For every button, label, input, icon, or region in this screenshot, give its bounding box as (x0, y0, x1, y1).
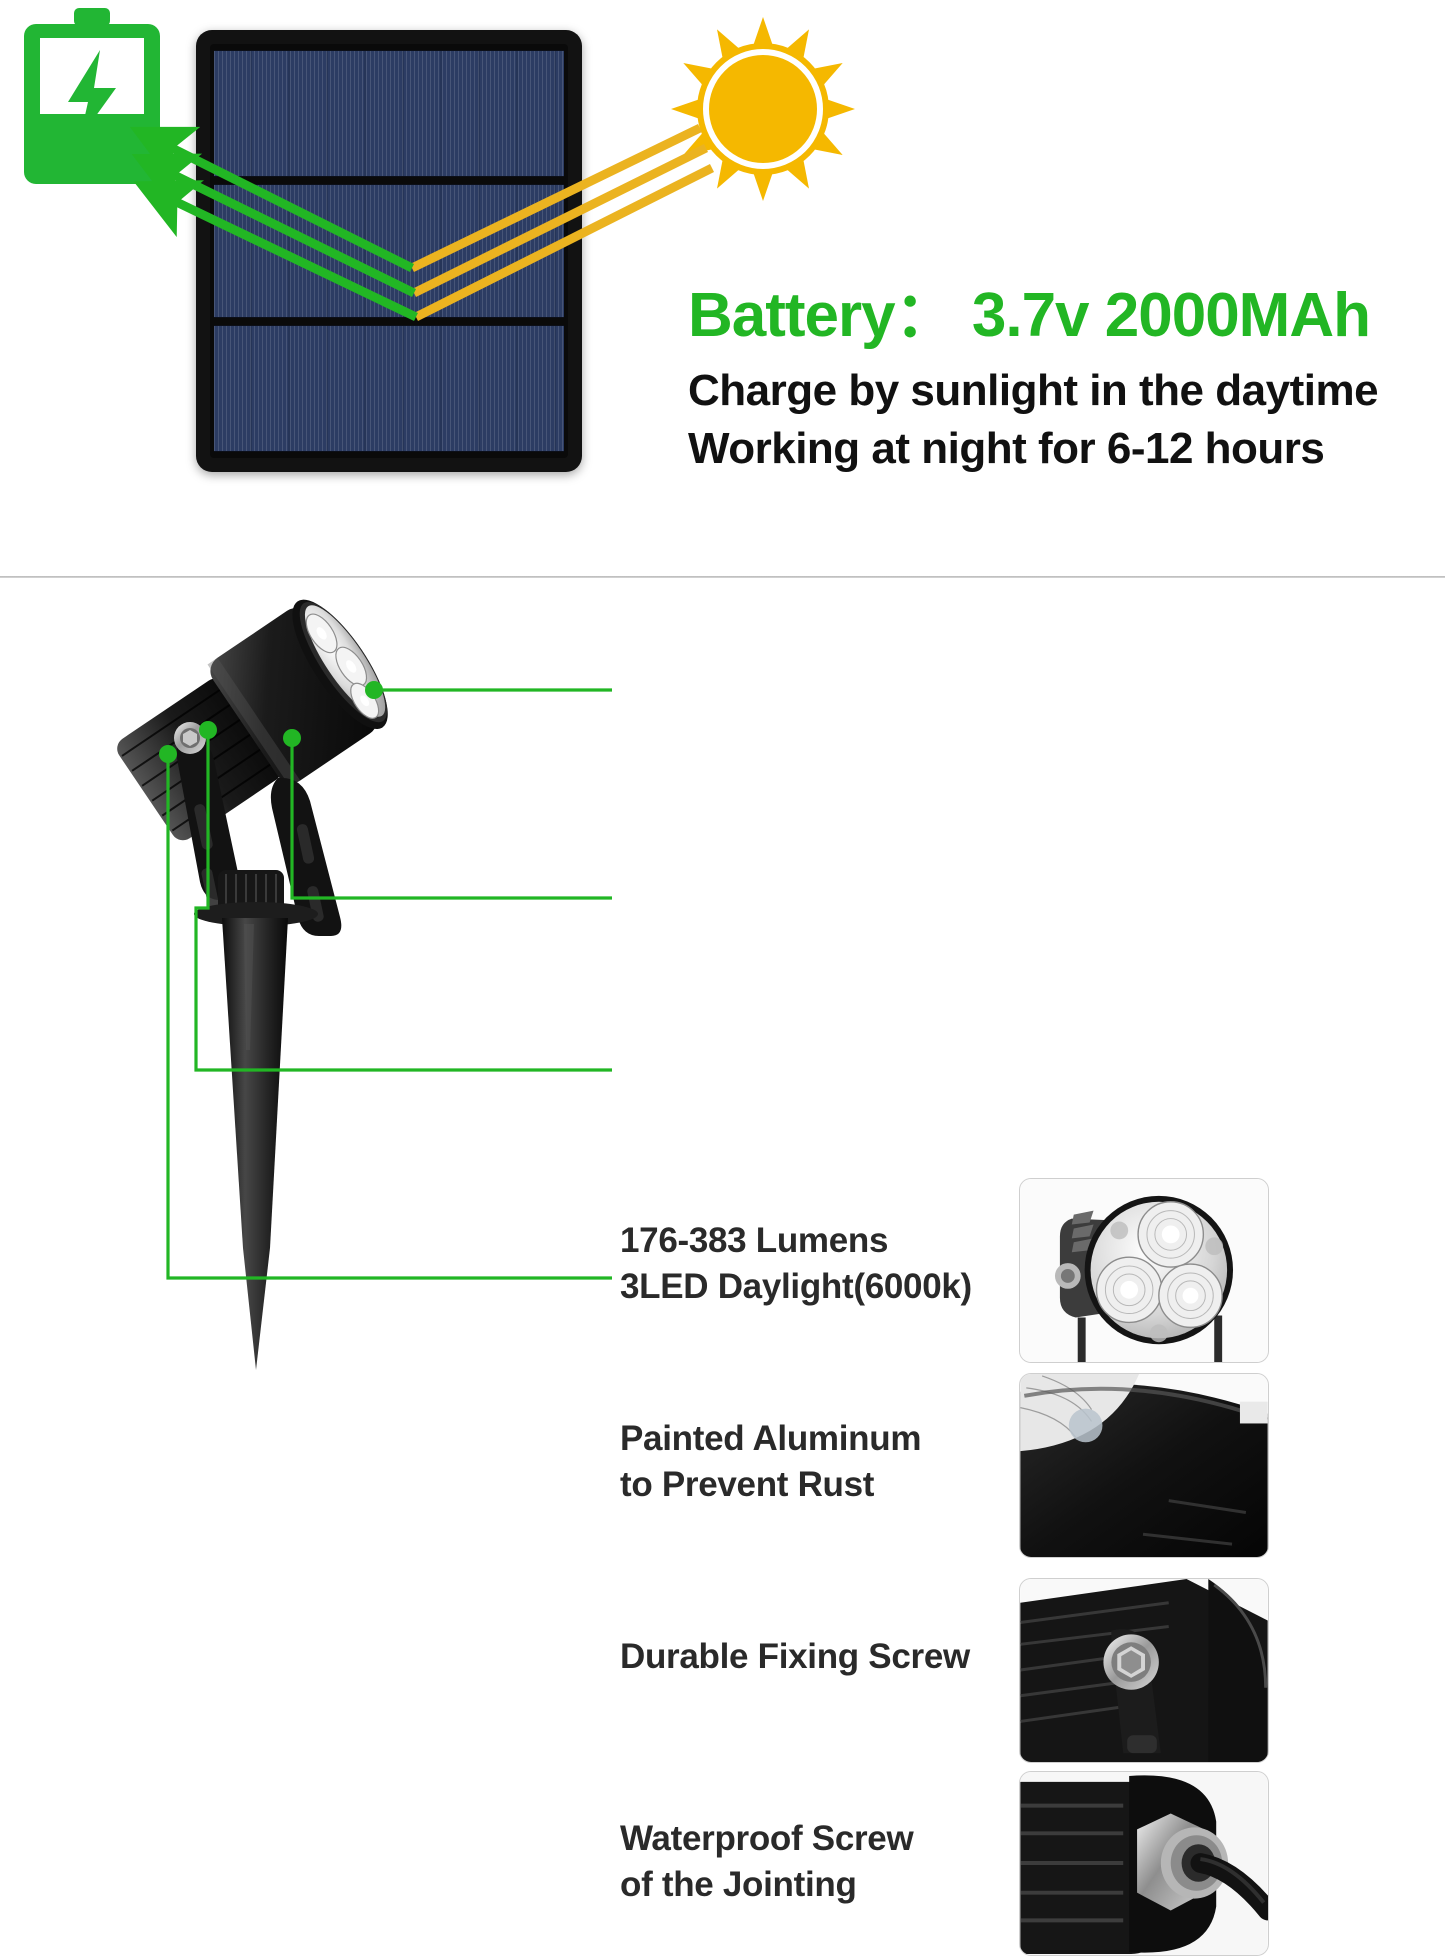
solar-panel-image (196, 30, 582, 472)
callout-aluminum-line1: Painted Aluminum (620, 1419, 921, 1458)
callout-lumens-line1: 176-383 Lumens (620, 1221, 888, 1260)
battery-spec-line-1: Charge by sunlight in the daytime (688, 362, 1408, 420)
battery-spec-block: Battery： 3.7v 2000MAh Charge by sunlight… (688, 283, 1408, 478)
battery-charging-icon (22, 6, 162, 184)
detail-card-aluminum-body-closeup (1019, 1373, 1269, 1558)
solar-cell-band (214, 50, 564, 177)
bottom-section-features: 176-383 Lumens 3LED Daylight(6000k) Pain… (0, 578, 1445, 1376)
solar-cell-band (214, 184, 564, 319)
callout-aluminum-line2: to Prevent Rust (620, 1462, 921, 1508)
top-section-battery-charging: Battery： 3.7v 2000MAh Charge by sunlight… (0, 0, 1445, 577)
infographic-canvas: Battery： 3.7v 2000MAh Charge by sunlight… (0, 0, 1445, 1376)
solar-cell-band (214, 325, 564, 452)
solar-panel-cells (210, 44, 568, 458)
callout-screw-line1: Durable Fixing Screw (620, 1637, 970, 1676)
callout-painted-aluminum: Painted Aluminum to Prevent Rust (620, 1416, 921, 1507)
ground-stake-part (222, 918, 288, 1370)
battery-spec-title: Battery： 3.7v 2000MAh (688, 283, 1408, 348)
detail-card-fixing-screw-closeup (1019, 1578, 1269, 1763)
callout-lumens-line2: 3LED Daylight(6000k) (620, 1264, 972, 1310)
sun-icon (668, 14, 858, 204)
callout-waterproof-line1: Waterproof Screw (620, 1819, 913, 1858)
callout-waterproof-line2: of the Jointing (620, 1862, 913, 1908)
callout-fixing-screw: Durable Fixing Screw (620, 1634, 970, 1680)
detail-card-led-lens-closeup (1019, 1178, 1269, 1363)
spotlight-product-image (110, 588, 440, 1378)
callout-waterproof-screw: Waterproof Screw of the Jointing (620, 1816, 913, 1907)
detail-card-cable-gland-closeup (1019, 1771, 1269, 1956)
callout-lumens-led: 176-383 Lumens 3LED Daylight(6000k) (620, 1218, 972, 1309)
fixing-screw-part (174, 722, 206, 754)
battery-spec-line-2: Working at night for 6-12 hours (688, 420, 1408, 478)
